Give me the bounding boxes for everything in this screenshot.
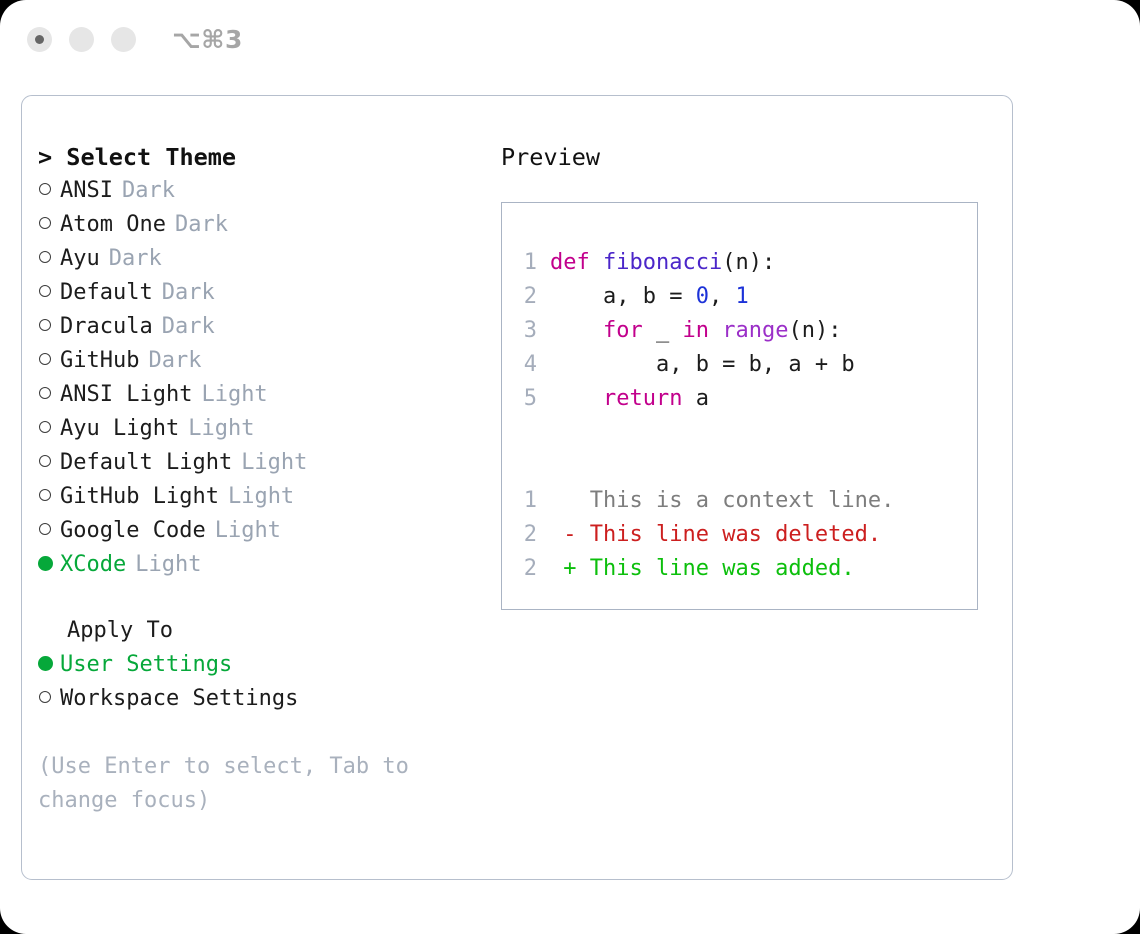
theme-item-label: Default Light (60, 446, 232, 480)
diff-line-number: 1 (521, 484, 537, 518)
theme-list-item[interactable]: Atom OneDark (38, 208, 478, 242)
theme-selection-panel: > Select Theme ANSIDarkAtom OneDarkAyuDa… (38, 140, 478, 818)
window-dot-active-icon[interactable] (27, 27, 52, 52)
diff-line: 2 + This line was added. (521, 552, 894, 586)
theme-list-item[interactable]: ANSIDark (38, 174, 478, 208)
theme-item-variant-tag: Light (201, 378, 267, 412)
code-line-number: 2 (521, 280, 537, 314)
apply-to-option-label: User Settings (60, 648, 232, 682)
apply-to-list: User SettingsWorkspace Settings (38, 648, 478, 716)
theme-item-label: Default (60, 276, 153, 310)
theme-item-label: GitHub (60, 344, 139, 378)
diff-line-text: This line was deleted. (577, 522, 882, 547)
diff-line-number: 2 (521, 552, 537, 586)
apply-to-heading: Apply To (38, 614, 478, 648)
diff-line: 1 This is a context line. (521, 484, 894, 518)
theme-item-variant-tag: Dark (162, 276, 215, 310)
diff-line-text: This is a context line. (577, 488, 895, 513)
theme-item-variant-tag: Light (228, 480, 294, 514)
code-token-keyword: in (682, 318, 709, 343)
theme-item-label: Ayu (60, 242, 100, 276)
theme-list-item[interactable]: Google CodeLight (38, 514, 478, 548)
code-token-number: 0 (696, 284, 709, 309)
code-sample: 1def fibonacci(n):2 a, b = 0, 13 for _ i… (521, 246, 894, 586)
code-line-number: 3 (521, 314, 537, 348)
diff-marker: + (550, 556, 577, 581)
code-token-function: fibonacci (603, 250, 722, 275)
theme-item-variant-tag: Dark (109, 242, 162, 276)
code-token-plain: , (709, 284, 736, 309)
theme-list-item[interactable]: AyuDark (38, 242, 478, 276)
theme-item-variant-tag: Light (135, 548, 201, 582)
code-token-plain: (n): (788, 318, 841, 343)
theme-item-variant-tag: Dark (148, 344, 201, 378)
theme-list-item[interactable]: ANSI LightLight (38, 378, 478, 412)
window-dot-second-icon[interactable] (69, 27, 94, 52)
code-blank-line (521, 450, 894, 484)
code-line: 5 return a (521, 382, 894, 416)
theme-item-variant-tag: Light (241, 446, 307, 480)
code-token-number: 1 (735, 284, 748, 309)
code-token-plain: _ (643, 318, 683, 343)
theme-item-variant-tag: Dark (122, 174, 175, 208)
theme-item-label: Dracula (60, 310, 153, 344)
apply-to-option-label: Workspace Settings (60, 682, 298, 716)
code-line: 1def fibonacci(n): (521, 246, 894, 280)
preview-panel: Preview 1def fibonacci(n):2 a, b = 0, 13… (501, 140, 996, 610)
code-token-keyword: return (603, 386, 682, 411)
code-token-keyword: for (603, 318, 643, 343)
theme-item-variant-tag: Light (188, 412, 254, 446)
diff-line: 2 - This line was deleted. (521, 518, 894, 552)
theme-list-item[interactable]: GitHubDark (38, 344, 478, 378)
window-dot-inner-icon (35, 35, 44, 44)
apply-to-option[interactable]: User Settings (38, 648, 478, 682)
theme-list: ANSIDarkAtom OneDarkAyuDarkDefaultDarkDr… (38, 174, 478, 582)
window-controls (27, 27, 136, 52)
preview-box: 1def fibonacci(n):2 a, b = 0, 13 for _ i… (501, 202, 978, 610)
theme-item-label: Ayu Light (60, 412, 179, 446)
theme-list-item[interactable]: Default LightLight (38, 446, 478, 480)
code-token-plain (709, 318, 722, 343)
diff-marker: - (550, 522, 577, 547)
theme-list-item[interactable]: DefaultDark (38, 276, 478, 310)
code-line-number: 1 (521, 246, 537, 280)
theme-item-label: GitHub Light (60, 480, 219, 514)
apply-to-option[interactable]: Workspace Settings (38, 682, 478, 716)
theme-item-variant-tag: Light (215, 514, 281, 548)
code-token-plain: (n): (722, 250, 775, 275)
code-line: 4 a, b = b, a + b (521, 348, 894, 382)
hint-gap (38, 716, 478, 750)
keyboard-hint-text: (Use Enter to select, Tab to change focu… (38, 750, 448, 818)
section-gap (38, 582, 478, 614)
title-bar: ⌥⌘3 (0, 0, 1140, 78)
theme-item-label: ANSI Light (60, 378, 192, 412)
code-token-plain: a, b = b, a + b (550, 352, 855, 377)
code-line: 3 for _ in range(n): (521, 314, 894, 348)
code-token-builtin: range (722, 318, 788, 343)
code-line-number: 5 (521, 382, 537, 416)
code-token-plain: a (682, 386, 709, 411)
preview-heading: Preview (501, 140, 996, 174)
theme-list-item[interactable]: GitHub LightLight (38, 480, 478, 514)
code-blank-line (521, 416, 894, 450)
panel-heading-select-theme: > Select Theme (38, 140, 478, 174)
theme-item-label: ANSI (60, 174, 113, 208)
theme-item-variant-tag: Dark (162, 310, 215, 344)
theme-list-item[interactable]: Ayu LightLight (38, 412, 478, 446)
code-line: 2 a, b = 0, 1 (521, 280, 894, 314)
app-window: ⌥⌘3 > Select Theme ANSIDarkAtom OneDarkA… (0, 0, 1140, 934)
diff-marker (550, 488, 577, 513)
code-line-number: 4 (521, 348, 537, 382)
code-token-plain: a, b = (550, 284, 696, 309)
code-token-plain (550, 318, 603, 343)
theme-list-item[interactable]: XCodeLight (38, 548, 478, 582)
theme-item-label: Atom One (60, 208, 166, 242)
keyboard-shortcut-label: ⌥⌘3 (172, 25, 243, 54)
code-token-keyword: def (550, 250, 603, 275)
window-dot-third-icon[interactable] (111, 27, 136, 52)
dialog-card: > Select Theme ANSIDarkAtom OneDarkAyuDa… (21, 95, 1013, 880)
theme-item-label: XCode (60, 548, 126, 582)
theme-item-variant-tag: Dark (175, 208, 228, 242)
theme-list-item[interactable]: DraculaDark (38, 310, 478, 344)
diff-line-text: This line was added. (577, 556, 855, 581)
code-token-plain (550, 386, 603, 411)
theme-item-label: Google Code (60, 514, 206, 548)
diff-line-number: 2 (521, 518, 537, 552)
